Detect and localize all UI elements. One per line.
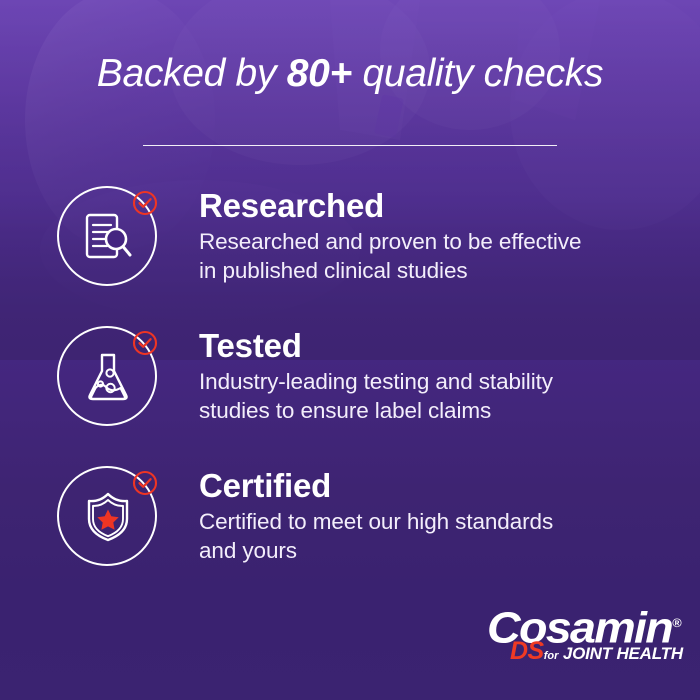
feature-body: Certified to meet our high standards and… bbox=[199, 507, 669, 565]
feature-body-line1: Researched and proven to be effective bbox=[199, 229, 581, 254]
page-title: Backed by 80+ quality checks bbox=[0, 52, 700, 96]
headline-after: quality checks bbox=[352, 52, 603, 95]
feature-body-line1: Industry-leading testing and stability bbox=[199, 369, 553, 394]
feature-icon-wrap bbox=[57, 186, 161, 290]
headline-before: Backed by bbox=[97, 52, 287, 95]
feature-body-line2: studies to ensure label claims bbox=[199, 398, 491, 423]
title-divider bbox=[143, 145, 557, 146]
flask-icon bbox=[83, 351, 133, 403]
headline-highlight: 80+ bbox=[287, 52, 352, 95]
check-circle-icon bbox=[132, 470, 158, 496]
document-magnifier-icon bbox=[83, 211, 133, 263]
logo-for-text: for bbox=[544, 650, 559, 662]
feature-body-line2: and yours bbox=[199, 538, 297, 563]
feature-certified: Certified Certified to meet our high sta… bbox=[0, 466, 700, 586]
feature-icon-wrap bbox=[57, 326, 161, 430]
feature-title: Tested bbox=[199, 328, 669, 364]
shield-star-icon bbox=[83, 491, 133, 543]
feature-title: Researched bbox=[199, 188, 669, 224]
feature-text: Tested Industry-leading testing and stab… bbox=[199, 328, 669, 425]
infographic-canvas: Backed by 80+ quality checks Researched bbox=[0, 0, 700, 700]
feature-body-line1: Certified to meet our high standards bbox=[199, 509, 553, 534]
logo-joint-health-text: JOINT HEALTH bbox=[563, 644, 683, 663]
check-circle-icon bbox=[132, 330, 158, 356]
logo-ds-text: DS bbox=[510, 637, 544, 665]
cosamin-logo: Cosamin® DSfor JOINT HEALTH bbox=[487, 601, 667, 667]
feature-text: Certified Certified to meet our high sta… bbox=[199, 468, 669, 565]
feature-body: Industry-leading testing and stability s… bbox=[199, 367, 669, 425]
feature-icon-wrap bbox=[57, 466, 161, 570]
logo-tagline: DSfor JOINT HEALTH bbox=[510, 639, 683, 668]
registered-trademark-icon: ® bbox=[672, 616, 681, 630]
feature-text: Researched Researched and proven to be e… bbox=[199, 188, 669, 285]
check-circle-icon bbox=[132, 190, 158, 216]
feature-title: Certified bbox=[199, 468, 669, 504]
feature-researched: Researched Researched and proven to be e… bbox=[0, 186, 700, 306]
feature-body-line2: in published clinical studies bbox=[199, 258, 468, 283]
feature-tested: Tested Industry-leading testing and stab… bbox=[0, 326, 700, 446]
feature-body: Researched and proven to be effective in… bbox=[199, 227, 669, 285]
